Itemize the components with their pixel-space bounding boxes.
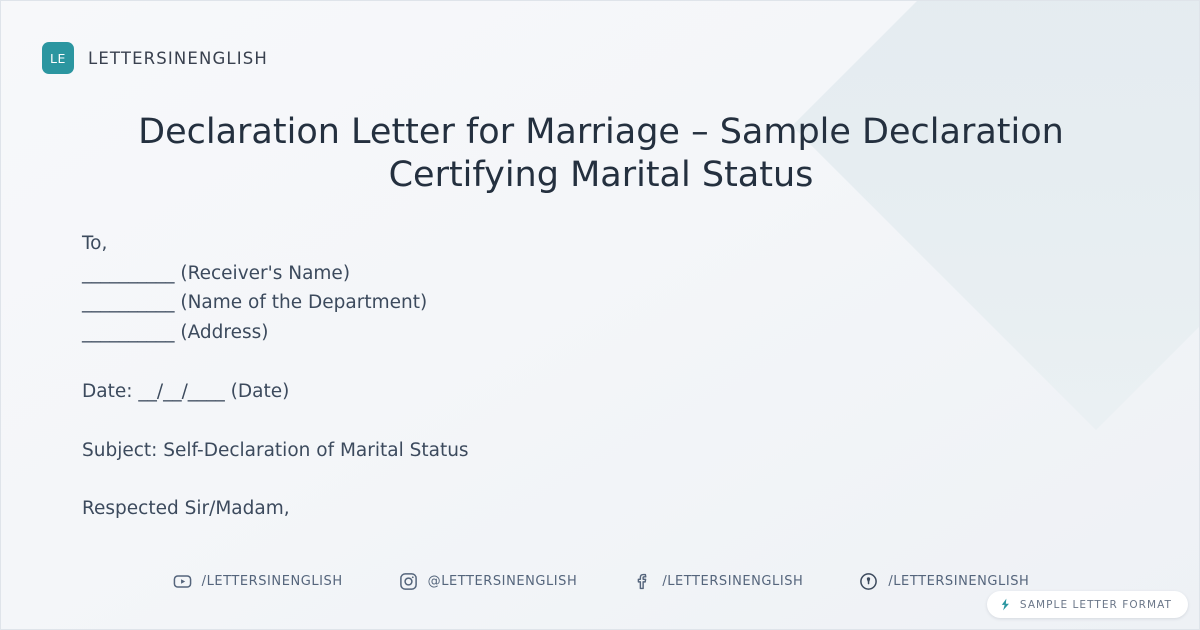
- social-link-instagram[interactable]: @LETTERSINENGLISH: [399, 572, 578, 591]
- letter-spacer: [82, 407, 842, 436]
- social-handle: /LETTERSINENGLISH: [202, 574, 343, 589]
- facebook-icon: [633, 572, 652, 591]
- social-link-youtube[interactable]: /LETTERSINENGLISH: [173, 572, 343, 591]
- poster-canvas: LE LETTERSINENGLISH Declaration Letter f…: [0, 0, 1200, 630]
- badge-label: SAMPLE LETTER FORMAT: [1020, 599, 1172, 611]
- social-handle: /LETTERSINENGLISH: [888, 574, 1029, 589]
- pinterest-icon: [859, 572, 878, 591]
- decorative-diamond-shape: [792, 0, 1200, 430]
- social-handle: @LETTERSINENGLISH: [428, 574, 578, 589]
- social-handle: /LETTERSINENGLISH: [662, 574, 803, 589]
- letter-receiver-line: __________ (Receiver's Name): [82, 259, 842, 289]
- letter-spacer: [82, 465, 842, 494]
- social-link-facebook[interactable]: /LETTERSINENGLISH: [633, 572, 803, 591]
- letter-salutation-line: Respected Sir/Madam,: [82, 494, 842, 524]
- letter-body: To, __________ (Receiver's Name) _______…: [82, 229, 842, 524]
- letter-to-line: To,: [82, 229, 842, 259]
- brand-header: LE LETTERSINENGLISH: [42, 42, 268, 74]
- page-title: Declaration Letter for Marriage – Sample…: [111, 111, 1091, 198]
- social-link-pinterest[interactable]: /LETTERSINENGLISH: [859, 572, 1029, 591]
- letter-spacer: [82, 348, 842, 377]
- social-links-bar: /LETTERSINENGLISH @LETTERSINENGLISH /LET…: [1, 572, 1200, 591]
- youtube-icon: [173, 572, 192, 591]
- lightning-bolt-icon: [999, 598, 1012, 611]
- instagram-icon: [399, 572, 418, 591]
- brand-name: LETTERSINENGLISH: [88, 49, 268, 68]
- sample-letter-format-badge[interactable]: SAMPLE LETTER FORMAT: [987, 591, 1188, 618]
- brand-logo-mark: LE: [42, 42, 74, 74]
- letter-department-line: __________ (Name of the Department): [82, 288, 842, 318]
- letter-subject-line: Subject: Self-Declaration of Marital Sta…: [82, 436, 842, 466]
- letter-address-line: __________ (Address): [82, 318, 842, 348]
- letter-date-line: Date: __/__/____ (Date): [82, 377, 842, 407]
